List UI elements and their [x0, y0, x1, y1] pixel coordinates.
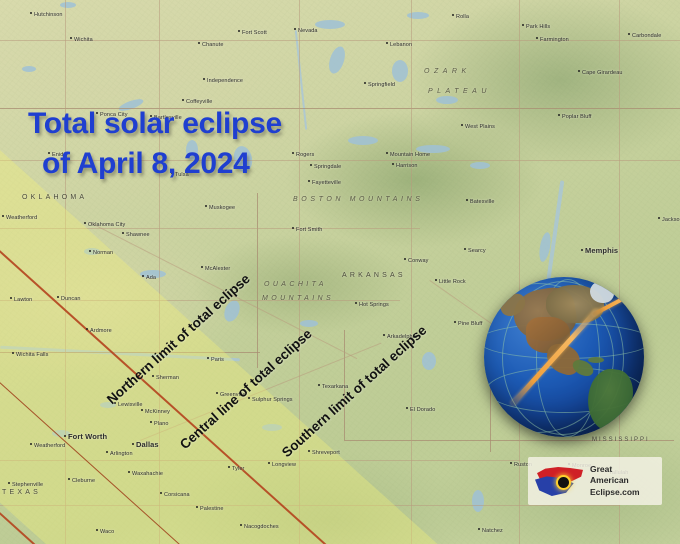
region-label-ozark: OZARK — [424, 68, 471, 75]
usa-logo-icon — [531, 461, 587, 501]
caribbean-islands — [588, 357, 604, 363]
logo-line-2: American — [590, 475, 640, 486]
state-label-arkansas: ARKANSAS — [342, 272, 406, 279]
great-american-eclipse-logo[interactable]: Great American Eclipse.com — [528, 457, 662, 505]
logo-line-1: Great — [590, 464, 640, 475]
logo-line-3: Eclipse.com — [590, 487, 640, 498]
region-label-plateau: PLATEAU — [428, 88, 491, 95]
eclipse-sun-icon — [558, 477, 569, 488]
globe-inset — [484, 277, 644, 437]
region-label-boston-mountains: BOSTON MOUNTAINS — [293, 196, 423, 203]
state-label-oklahoma: OKLAHOMA — [22, 194, 87, 201]
state-label-mississippi: MISSISSIPPI — [592, 437, 650, 443]
globe-sphere — [484, 277, 644, 437]
eclipse-map: OKLAHOMA ARKANSAS TEXAS MISSISSIPPI OZAR… — [0, 0, 680, 544]
greenland — [590, 281, 614, 303]
logo-text: Great American Eclipse.com — [590, 464, 640, 498]
region-label-ouachita-mountains: MOUNTAINS — [262, 295, 334, 302]
state-label-texas: TEXAS — [2, 489, 41, 496]
region-label-ouachita: OUACHITA — [264, 281, 327, 288]
